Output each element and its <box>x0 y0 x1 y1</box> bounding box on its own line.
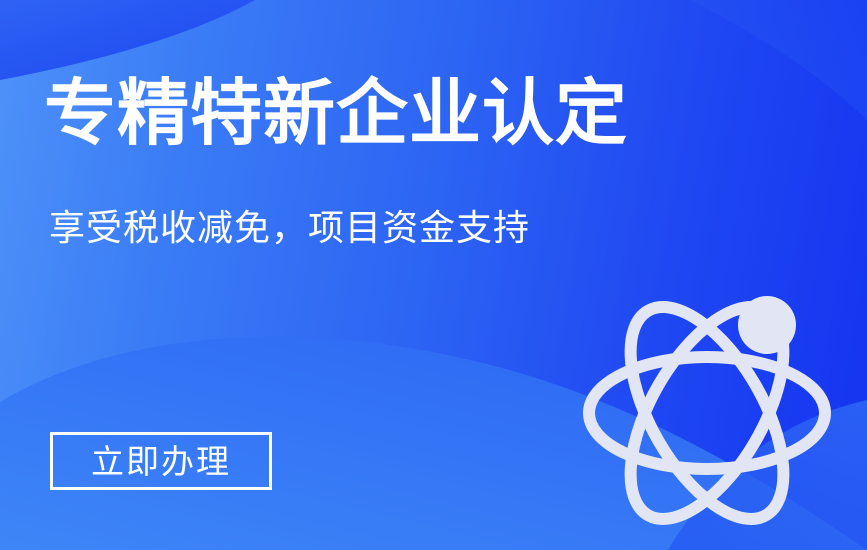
banner-content: 专精特新企业认定 享受税收减免，项目资金支持 立即办理 <box>0 0 867 550</box>
atom-icon <box>575 280 840 545</box>
promotional-banner: 专精特新企业认定 享受税收减免，项目资金支持 立即办理 <box>0 0 867 550</box>
apply-now-button[interactable]: 立即办理 <box>50 432 272 490</box>
atom-electron-dot <box>738 296 796 354</box>
apply-now-button-label: 立即办理 <box>91 445 231 478</box>
banner-title: 专精特新企业认定 <box>44 78 628 150</box>
banner-subtitle: 享受税收减免，项目资金支持 <box>49 210 530 246</box>
atom-orbit-horizontal <box>589 357 825 469</box>
